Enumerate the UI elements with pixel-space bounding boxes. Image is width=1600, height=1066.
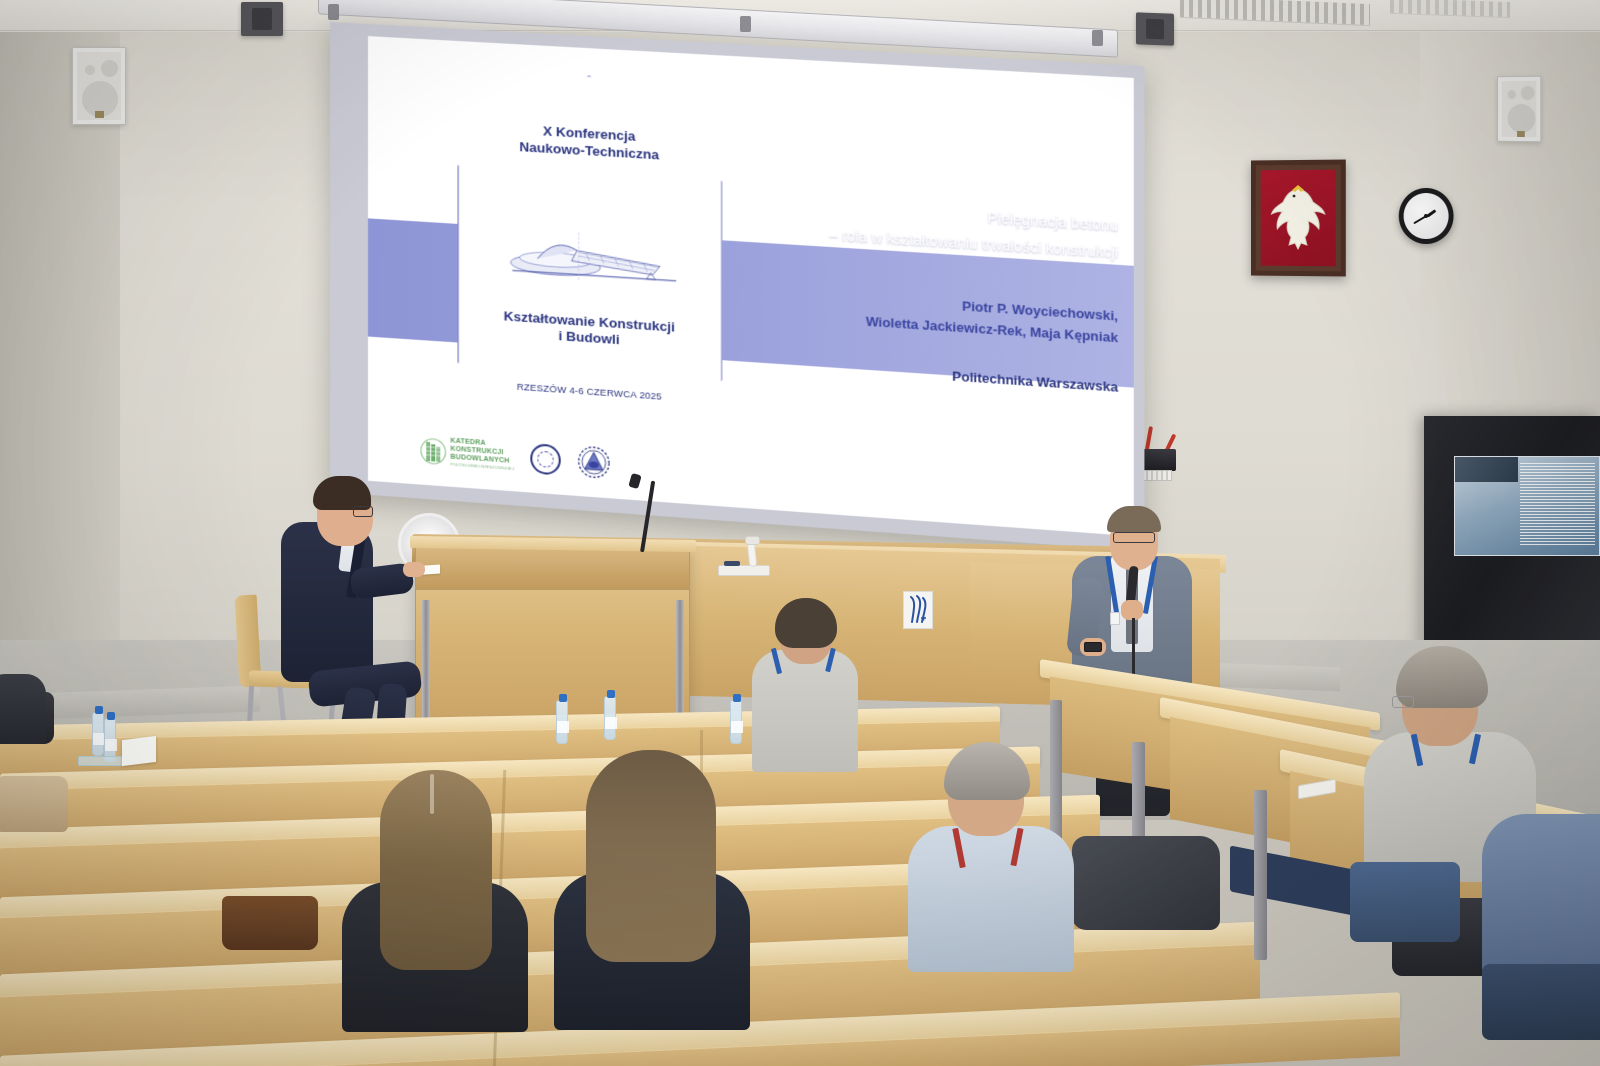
moderator-hand	[403, 562, 425, 577]
stadium-roof-truss-illustration	[499, 214, 679, 304]
attendee-hair	[775, 598, 837, 648]
screen-roller-bracket	[740, 16, 751, 32]
wall-speaker-right	[1497, 76, 1541, 143]
moderator-hair	[313, 476, 371, 510]
tan-handbag	[0, 776, 68, 832]
clock-center-pin	[1424, 214, 1428, 218]
speaker-tweeter	[1508, 90, 1517, 99]
clock-face	[1404, 193, 1449, 239]
conference-hexagon-logo: X Konferencja Naukowo-Techniczna	[457, 68, 722, 480]
attendee-shirt-body	[1482, 814, 1600, 974]
speaker-badge	[1517, 131, 1525, 137]
bottle-cap	[607, 690, 615, 698]
speaker-hair	[1107, 506, 1161, 532]
attendee-far-left-cropped	[0, 664, 46, 744]
attendee-hair-part	[430, 774, 434, 814]
projector-mount-left	[241, 2, 283, 36]
katedra-logo-text: KATEDRA KONSTRUKCJI BUDOWLANYCH POLITECH…	[450, 437, 513, 471]
projection-screen: X Konferencja Naukowo-Techniczna	[330, 22, 1144, 551]
wall-clock	[1399, 188, 1454, 244]
building-columns-icon	[420, 435, 446, 467]
attendee-shoulder	[0, 674, 46, 744]
glass-tray	[78, 756, 124, 766]
attendee-jeans	[1482, 964, 1600, 1040]
poster-body-text	[1520, 463, 1595, 547]
water-bottle	[730, 700, 742, 744]
talk-title: Pielęgnacja betonu – rola w kształtowani…	[768, 194, 1118, 267]
attendee-shirt	[752, 650, 858, 772]
speaker-badge	[95, 111, 104, 118]
projector-mount-right	[1136, 12, 1174, 45]
polish-eagle-icon	[1267, 181, 1330, 255]
speaker-tweeter	[85, 65, 95, 75]
bottle-label	[105, 739, 117, 751]
attendee-hair	[944, 742, 1030, 800]
bottle-cap	[559, 694, 567, 702]
talk-authors: Piotr P. Woyciechowski, Wioletta Jackiew…	[768, 283, 1118, 349]
bottle-cap	[733, 694, 741, 702]
bottle-label	[557, 721, 569, 733]
podkarpacka-izba-inzynierow-seal	[530, 443, 560, 475]
katedra-konstrukcji-budowlanych-logo: KATEDRA KONSTRUKCJI BUDOWLANYCH POLITECH…	[420, 435, 514, 472]
attendee-front-center	[742, 592, 872, 772]
projected-slide: X Konferencja Naukowo-Techniczna	[368, 36, 1134, 536]
brown-leather-bag	[222, 896, 318, 950]
slide-content: X Konferencja Naukowo-Techniczna	[368, 36, 1134, 536]
name-card-tent	[122, 736, 156, 766]
attendee-hair-long	[380, 770, 492, 970]
desk-support-bracket	[1254, 790, 1267, 960]
attendee-jeans	[1350, 862, 1460, 942]
attendee-long-hair-center	[552, 750, 752, 1030]
bench-row-front	[0, 1024, 1400, 1066]
lectern	[415, 545, 690, 730]
speaker-badge	[1110, 612, 1120, 625]
water-bottle	[556, 700, 568, 744]
wall-speaker-left	[72, 47, 126, 125]
bottle-cap	[95, 706, 103, 714]
bottle-label	[605, 717, 617, 729]
prz-emblem-icon	[904, 592, 932, 628]
screen-roller-bracket	[1092, 30, 1103, 46]
attendee-blue-shirt-far-right	[1482, 782, 1600, 1032]
lectern-top-panel	[416, 546, 689, 590]
pzitb-oddzial-rzeszow-logo	[577, 445, 611, 481]
attendee-glasses	[1392, 696, 1414, 708]
speaker-glasses	[1113, 532, 1155, 543]
attendee-grey-hair-center	[906, 740, 1076, 970]
politechnika-rzeszowska-logo	[903, 591, 933, 629]
lecture-hall-photo: X Konferencja Naukowo-Techniczna	[0, 0, 1600, 1066]
conference-poster	[1454, 456, 1600, 556]
talk-affiliation: Politechnika Warszawska	[768, 356, 1118, 395]
moderator-glasses	[353, 506, 373, 517]
bottle-cap	[107, 712, 115, 720]
speaker-tweeter	[1521, 86, 1535, 100]
attendee-hair-long	[586, 750, 716, 962]
speaker-tweeter	[101, 60, 118, 77]
dark-coat-on-bench	[1072, 836, 1220, 930]
speaker-woofer	[1508, 104, 1536, 133]
lectern-leg	[676, 600, 684, 720]
water-bottle	[604, 696, 616, 740]
speaker-hand-mic	[1121, 600, 1143, 620]
slide-text-block: Pielęgnacja betonu – rola w kształtowani…	[768, 99, 1118, 395]
poster-header-image	[1455, 457, 1518, 482]
presentation-clicker	[1084, 642, 1102, 652]
screen-roller-bracket	[328, 4, 339, 20]
attendee-long-hair-left	[340, 770, 530, 1030]
water-bottle	[92, 712, 104, 756]
polish-eagle-emblem-frame	[1251, 160, 1346, 277]
document-camera	[718, 536, 770, 576]
attendee-shirt	[908, 826, 1074, 972]
